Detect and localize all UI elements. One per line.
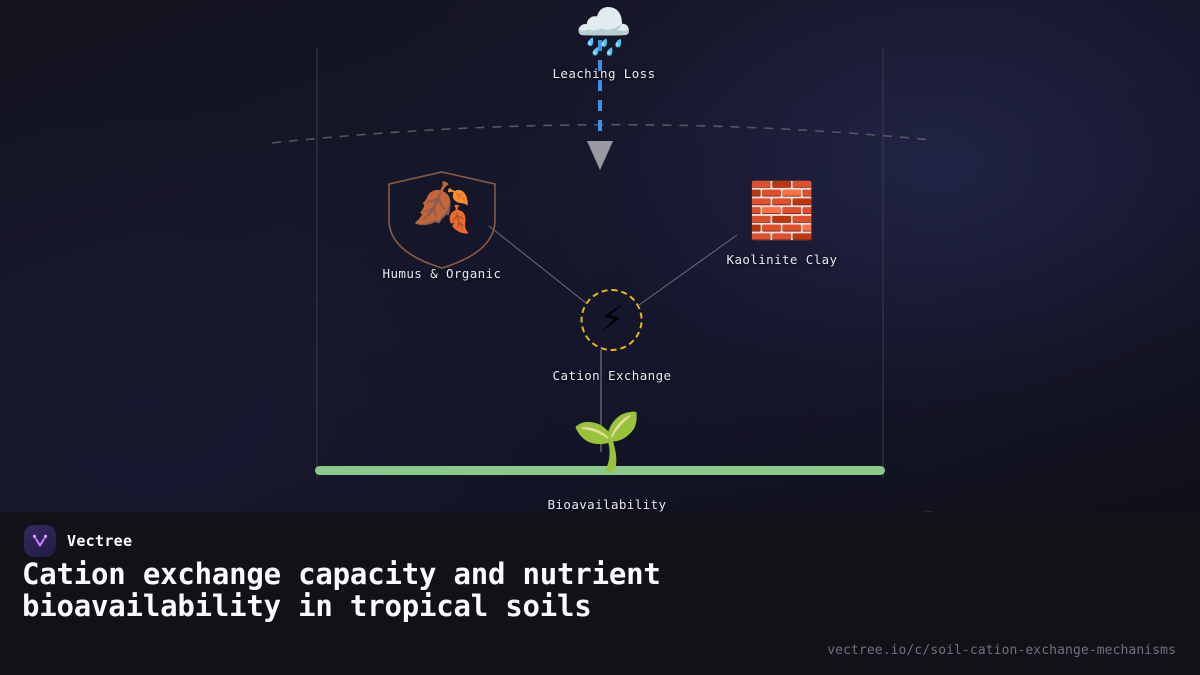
source-url: vectree.io/c/soil-cation-exchange-mechan… — [827, 643, 1176, 658]
shield-frame: 🍂 — [379, 168, 505, 272]
node-cation-exchange-label: Cation Exchange — [553, 368, 672, 383]
node-leaching-loss-label: Leaching Loss — [552, 66, 655, 81]
cloud-with-rain-icon: 🌧️ — [575, 8, 632, 54]
node-kaolinite-clay-label: Kaolinite Clay — [727, 252, 838, 267]
fallen-leaves-icon: 🍂 — [412, 184, 472, 232]
footer-bar: Vectree Cation exchange capacity and nut… — [0, 512, 1200, 675]
cation-exchange-ring: ⚡ — [581, 289, 643, 351]
node-bioavailability[interactable]: 🌱 Bioavailability — [548, 414, 667, 512]
node-leaching-loss[interactable]: 🌧️ Leaching Loss — [552, 8, 655, 81]
diagram-canvas: 🌧️ Leaching Loss 🍂 Humus & Organic 🧱 Kao… — [0, 0, 1200, 512]
node-cation-exchange[interactable]: ⚡ Cation Exchange — [553, 289, 672, 383]
high-voltage-icon: ⚡ — [599, 302, 624, 338]
leaching-arrow-head — [587, 141, 613, 170]
page-title: Cation exchange capacity and nutrient bi… — [22, 558, 822, 622]
brick-icon: 🧱 — [748, 184, 815, 238]
brand-block[interactable]: Vectree — [24, 525, 132, 557]
node-bioavailability-label: Bioavailability — [548, 497, 667, 512]
seedling-icon: 🌱 — [572, 414, 642, 470]
node-humus-organic[interactable]: 🍂 Humus & Organic — [379, 168, 505, 281]
brand-name: Vectree — [67, 532, 132, 550]
node-kaolinite-clay[interactable]: 🧱 Kaolinite Clay — [727, 184, 838, 267]
vectree-logo-icon — [24, 525, 56, 557]
screenshot-root: 🌧️ Leaching Loss 🍂 Humus & Organic 🧱 Kao… — [0, 0, 1200, 675]
